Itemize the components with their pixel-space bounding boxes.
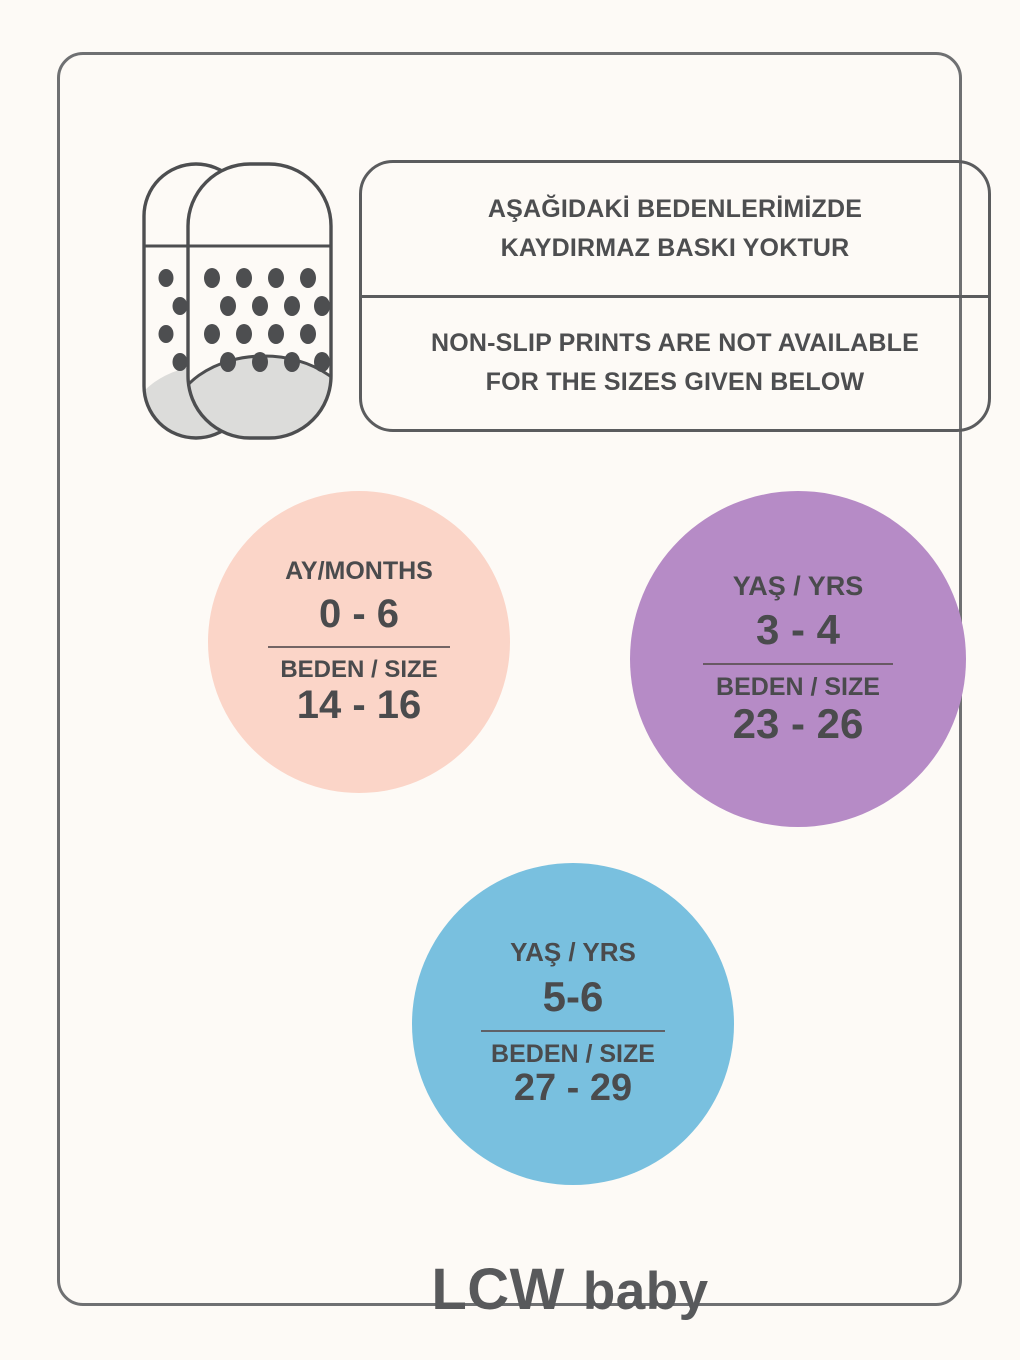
size-age-range: 0 - 6 — [319, 593, 399, 635]
size-unit-label: AY/MONTHS — [285, 558, 433, 584]
size-chart-card: AŞAĞIDAKİ BEDENLERİMİZDE KAYDIRMAZ BASKI… — [57, 52, 962, 1306]
notice-turkish: AŞAĞIDAKİ BEDENLERİMİZDE KAYDIRMAZ BASKI… — [362, 163, 988, 298]
notice-english-line-1: NON-SLIP PRINTS ARE NOT AVAILABLE — [431, 331, 919, 356]
size-beden-value: 14 - 16 — [297, 684, 422, 726]
size-circle-yrs-3-4: YAŞ / YRS 3 - 4 BEDEN / SIZE 23 - 26 — [630, 491, 966, 827]
size-circle-yrs-5-6: YAŞ / YRS 5-6 BEDEN / SIZE 27 - 29 — [412, 863, 734, 1185]
brand-name-primary: LCW — [431, 1257, 565, 1322]
size-divider — [481, 1030, 665, 1032]
size-circle-months-0-6: AY/MONTHS 0 - 6 BEDEN / SIZE 14 - 16 — [208, 491, 510, 793]
size-divider — [703, 663, 893, 665]
notice-english-line-2: FOR THE SIZES GIVEN BELOW — [486, 370, 865, 395]
size-divider — [268, 646, 450, 648]
notice-turkish-line-2: KAYDIRMAZ BASKI YOKTUR — [501, 236, 850, 261]
size-age-range: 3 - 4 — [756, 608, 840, 652]
size-beden-label: BEDEN / SIZE — [280, 657, 437, 682]
size-chart-page: AŞAĞIDAKİ BEDENLERİMİZDE KAYDIRMAZ BASKI… — [0, 0, 1020, 1360]
notice-turkish-line-1: AŞAĞIDAKİ BEDENLERİMİZDE — [488, 197, 862, 222]
size-beden-label: BEDEN / SIZE — [491, 1041, 655, 1067]
non-slip-notice-box: AŞAĞIDAKİ BEDENLERİMİZDE KAYDIRMAZ BASKI… — [359, 160, 991, 432]
size-beden-value: 23 - 26 — [733, 702, 864, 746]
size-beden-label: BEDEN / SIZE — [716, 674, 880, 700]
notice-english: NON-SLIP PRINTS ARE NOT AVAILABLE FOR TH… — [362, 298, 988, 430]
size-beden-value: 27 - 29 — [514, 1069, 632, 1109]
brand-name-secondary: baby — [583, 1262, 709, 1321]
brand-logo: LCWbaby — [60, 1261, 1020, 1319]
non-slip-socks-icon — [140, 160, 335, 442]
size-age-range: 5-6 — [543, 975, 604, 1019]
size-unit-label: YAŞ / YRS — [733, 572, 864, 600]
size-unit-label: YAŞ / YRS — [510, 939, 636, 966]
